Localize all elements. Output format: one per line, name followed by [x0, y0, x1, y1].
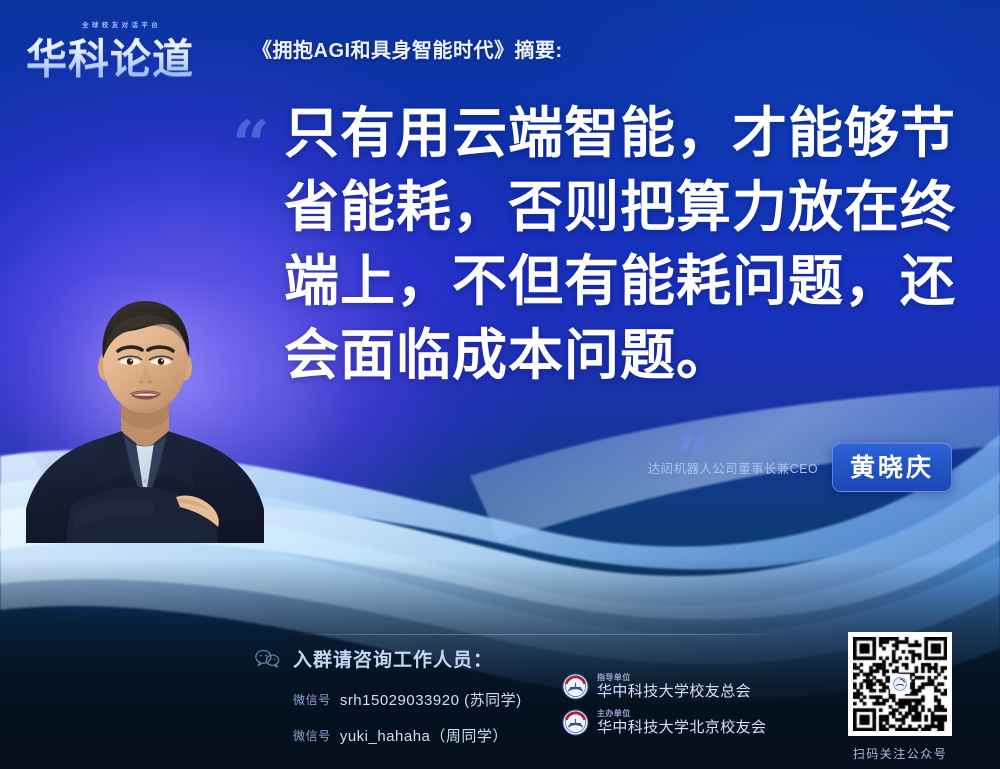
contact-label: 微信号 [293, 691, 331, 708]
header-bar: 全球校友对话平台 华科论道 《拥抱AGI和具身智能时代》摘要: [0, 0, 1000, 90]
organization-kind: 主办单位 [597, 708, 766, 719]
quote-block: “ 只有用云端智能，才能够节 省能耗，否则把算力放在终 端上，不但有能耗问题，还… [232, 96, 962, 392]
qr-caption: 扫码关注公众号 [836, 745, 964, 762]
contact-value[interactable]: srh15029033920 (苏同学) [340, 689, 522, 710]
organization-kind: 指导单位 [597, 672, 751, 683]
speaker-role: 达闼机器人公司董事长兼CEO [648, 458, 818, 477]
contact-label: 微信号 [293, 727, 331, 744]
qr-section: 扫码关注公众号 [836, 632, 964, 762]
attribution: 达闼机器人公司董事长兼CEO 黄晓庆 [648, 442, 952, 492]
speaker-portrait [26, 275, 264, 543]
hust-seal-icon [562, 709, 589, 736]
wechat-icon [255, 649, 280, 668]
page-title: 《拥抱AGI和具身智能时代》摘要: [252, 34, 563, 63]
organization-text: 指导单位 华中科技大学校友总会 [597, 672, 751, 701]
brand-logo[interactable]: 全球校友对话平台 华科论道 [26, 16, 226, 74]
contact-value[interactable]: yuki_hahaha（周同学） [340, 725, 508, 746]
logo-wordmark: 华科论道 [26, 25, 194, 85]
hust-seal-icon [562, 673, 589, 700]
quote-line: 省能耗，否则把算力放在终 [284, 170, 962, 244]
quote-line: 端上，不但有能耗问题，还 [284, 244, 962, 318]
qr-center-logo [890, 674, 910, 694]
qr-code-icon[interactable] [848, 632, 952, 736]
speaker-name-badge: 黄晓庆 [832, 442, 952, 492]
poster-canvas: 全球校友对话平台 华科论道 《拥抱AGI和具身智能时代》摘要: “ 只有用云端智… [0, 0, 1000, 769]
hust-seal-icon [893, 677, 907, 691]
quote-text: 只有用云端智能，才能够节 省能耗，否则把算力放在终 端上，不但有能耗问题，还 会… [284, 96, 962, 392]
quote-line: 会面临成本问题。 [284, 318, 962, 392]
footer-divider [286, 634, 786, 635]
organization-item: 指导单位 华中科技大学校友总会 [562, 668, 766, 704]
footer-heading: 入群请咨询工作人员： [293, 645, 493, 672]
quote-open-mark: “ [232, 112, 270, 178]
organization-list: 指导单位 华中科技大学校友总会 主办单位 华中科技大学北京校友会 [562, 668, 766, 740]
organization-text: 主办单位 华中科技大学北京校友会 [597, 708, 766, 737]
quote-line: 只有用云端智能，才能够节 [284, 96, 962, 170]
organization-name: 华中科技大学北京校友会 [597, 719, 766, 737]
organization-name: 华中科技大学校友总会 [597, 683, 751, 701]
organization-item: 主办单位 华中科技大学北京校友会 [562, 704, 766, 740]
